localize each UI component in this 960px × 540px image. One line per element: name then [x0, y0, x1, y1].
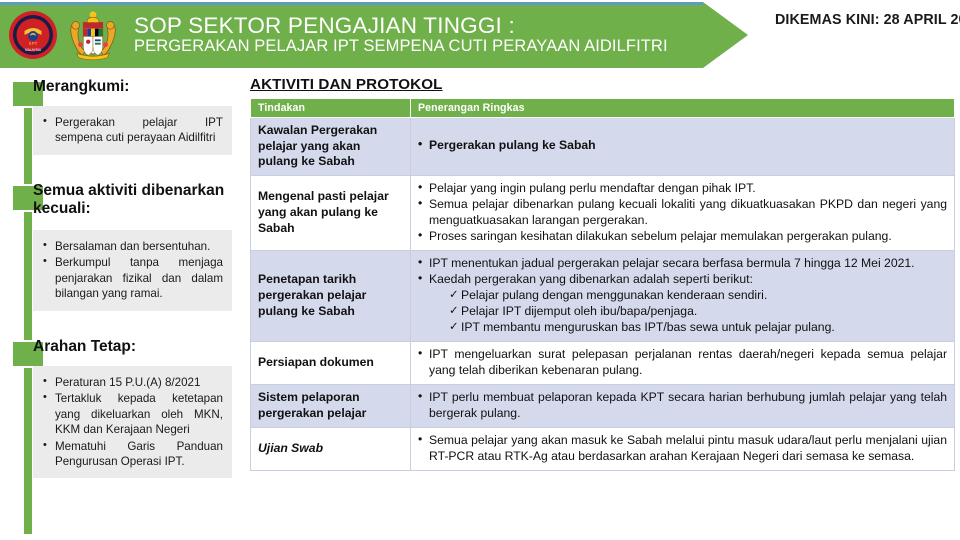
header-banner: KPT MALAYSIA [0, 2, 748, 68]
sidebar-content-box-1: Pergerakan pelajar IPT sempena cuti pera… [33, 106, 232, 155]
table-row: Persiapan dokumenIPT mengeluarkan surat … [251, 341, 955, 384]
cell-description: IPT perlu membuat pelaporan kepada KPT s… [411, 384, 955, 427]
sidebar-spine-line [24, 82, 32, 534]
cell-description: Pergerakan pulang ke Sabah [411, 118, 955, 176]
bullet-text: IPT perlu membuat pelaporan kepada KPT s… [429, 390, 947, 420]
malaysia-coat-of-arms-icon [64, 9, 122, 61]
table-row: Penetapan tarikh pergerakan pelajar pula… [251, 250, 955, 341]
description-bullet: Pergerakan pulang ke Sabah [418, 138, 947, 154]
list-item: Mematuhi Garis Panduan Pengurusan Operas… [39, 439, 223, 470]
sop-table: Tindakan Penerangan Ringkas Kawalan Perg… [250, 98, 955, 471]
svg-text:KPT: KPT [29, 41, 38, 46]
cell-description: Pelajar yang ingin pulang perlu mendafta… [411, 175, 955, 250]
column-header-tindakan: Tindakan [251, 99, 411, 118]
kpt-seal-icon: KPT MALAYSIA [8, 10, 58, 60]
last-updated-text: DIKEMAS KINI: 28 APRIL 2021 [775, 12, 960, 28]
bullet-text: Pelajar yang ingin pulang perlu mendafta… [429, 181, 756, 195]
activity-protocol-panel: AKTIVITI DAN PROTOKOL Tindakan Peneranga… [250, 76, 955, 471]
sidebar-content-box-3: Peraturan 15 P.U.(A) 8/2021Tertakluk kep… [33, 366, 232, 478]
panel-title: AKTIVITI DAN PROTOKOL [250, 76, 955, 93]
list-item: Berkumpul tanpa menjaga penjarakan fizik… [39, 255, 223, 301]
description-bullet: Kaedah pergerakan yang dibenarkan adalah… [418, 272, 947, 336]
table-header-row: Tindakan Penerangan Ringkas [251, 99, 955, 118]
bullet-text: Semua pelajar yang akan masuk ke Sabah m… [429, 433, 947, 463]
cell-action: Persiapan dokumen [251, 341, 411, 384]
cell-action: Ujian Swab [251, 427, 411, 470]
description-bullet: IPT perlu membuat pelaporan kepada KPT s… [418, 390, 947, 422]
table-row: Ujian SwabSemua pelajar yang akan masuk … [251, 427, 955, 470]
bullet-text: IPT mengeluarkan surat pelepasan perjala… [429, 347, 947, 377]
bullet-text: IPT menentukan jadual pergerakan pelajar… [429, 256, 915, 270]
page-subtitle: PERGERAKAN PELAJAR IPT SEMPENA CUTI PERA… [134, 38, 668, 56]
cell-action: Kawalan Pergerakan pelajar yang akan pul… [251, 118, 411, 176]
cell-description: Semua pelajar yang akan masuk ke Sabah m… [411, 427, 955, 470]
description-bullet: IPT menentukan jadual pergerakan pelajar… [418, 256, 947, 272]
cell-description: IPT menentukan jadual pergerakan pelajar… [411, 250, 955, 341]
list-item: Peraturan 15 P.U.(A) 8/2021 [39, 375, 223, 390]
cell-action: Mengenal pasti pelajar yang akan pulang … [251, 175, 411, 250]
cell-action: Penetapan tarikh pergerakan pelajar pula… [251, 250, 411, 341]
page-title: SOP SEKTOR PENGAJIAN TINGGI : [134, 14, 668, 38]
emblem-group: KPT MALAYSIA [0, 9, 122, 61]
sidebar-heading-3: Arahan Tetap: [33, 338, 241, 356]
list-item: Pergerakan pelajar IPT sempena cuti pera… [39, 115, 223, 146]
description-bullet: Semua pelajar dibenarkan pulang kecuali … [418, 197, 947, 229]
description-bullet: Semua pelajar yang akan masuk ke Sabah m… [418, 433, 947, 465]
sidebar: Merangkumi:Pergerakan pelajar IPT sempen… [0, 74, 243, 534]
table-row: Kawalan Pergerakan pelajar yang akan pul… [251, 118, 955, 176]
list-item: Tertakluk kepada ketetapan yang dikeluar… [39, 391, 223, 437]
table-row: Sistem pelaporan pergerakan pelajarIPT p… [251, 384, 955, 427]
svg-text:MALAYSIA: MALAYSIA [25, 48, 42, 52]
banner-text-group: SOP SEKTOR PENGAJIAN TINGGI : PERGERAKAN… [134, 14, 668, 56]
sop-infographic-page: KPT MALAYSIA [0, 0, 960, 540]
bullet-text: Proses saringan kesihatan dilakukan sebe… [429, 229, 892, 243]
sidebar-heading-1: Merangkumi: [33, 78, 241, 96]
column-header-penerangan: Penerangan Ringkas [411, 99, 955, 118]
cell-description: IPT mengeluarkan surat pelepasan perjala… [411, 341, 955, 384]
checkmark-item: IPT membantu menguruskan bas IPT/bas sew… [449, 320, 947, 336]
sidebar-heading-2: Semua aktiviti dibenarkan kecuali: [33, 182, 241, 218]
cell-action: Sistem pelaporan pergerakan pelajar [251, 384, 411, 427]
checkmark-item: Pelajar pulang dengan menggunakan kender… [449, 288, 947, 304]
table-row: Mengenal pasti pelajar yang akan pulang … [251, 175, 955, 250]
bullet-text: Pergerakan pulang ke Sabah [429, 138, 596, 152]
banner-top-accent-line [0, 2, 703, 5]
description-bullet: Proses saringan kesihatan dilakukan sebe… [418, 229, 947, 245]
sidebar-content-box-2: Bersalaman dan bersentuhan.Berkumpul tan… [33, 230, 232, 311]
list-item: Bersalaman dan bersentuhan. [39, 239, 223, 254]
bullet-text: Semua pelajar dibenarkan pulang kecuali … [429, 197, 947, 227]
description-bullet: Pelajar yang ingin pulang perlu mendafta… [418, 181, 947, 197]
checkmark-item: Pelajar IPT dijemput oleh ibu/bapa/penja… [449, 304, 947, 320]
description-bullet: IPT mengeluarkan surat pelepasan perjala… [418, 347, 947, 379]
bullet-text: Kaedah pergerakan yang dibenarkan adalah… [429, 272, 753, 286]
